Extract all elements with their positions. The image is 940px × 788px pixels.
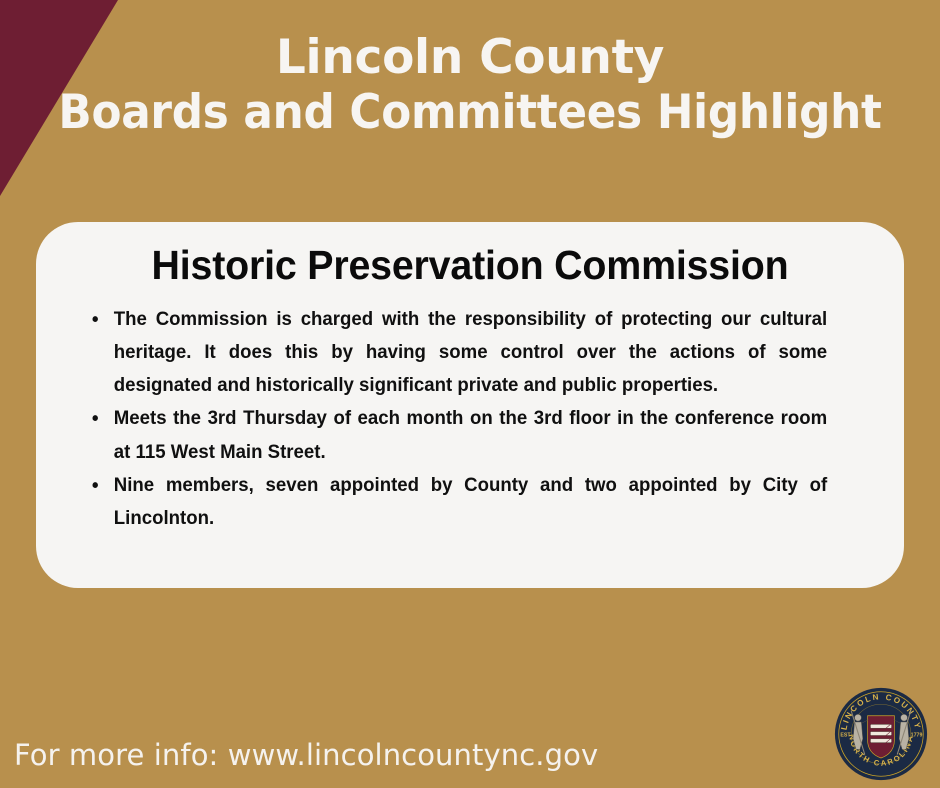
list-item: The Commission is charged with the respo… [88, 303, 827, 402]
svg-text:EST: EST [840, 732, 851, 738]
list-item: Nine members, seven appointed by County … [88, 469, 827, 535]
list-item-text-lastline: designated and historically significant … [114, 374, 718, 396]
list-item-text: Meets the 3rd Thursday of each month on … [114, 407, 774, 429]
lincoln-county-seal-logo: LINCOLN COUNTY NORTH CAROLINA EST 1779 [833, 686, 929, 782]
footer-info-text: For more info: www.lincolncountync.gov [14, 738, 598, 772]
svg-text:1779: 1779 [911, 732, 923, 738]
highlights-list: The Commission is charged with the respo… [64, 303, 876, 535]
header-title-line1: Lincoln County [0, 30, 940, 85]
poster-canvas: Lincoln County Boards and Committees Hig… [0, 0, 940, 788]
header-title-line2: Boards and Committees Highlight [33, 85, 907, 140]
list-item-text: The Commission is charged with the respo… [114, 308, 827, 363]
list-item-text-lastline: Lincolnton. [114, 507, 214, 529]
poster-header: Lincoln County Boards and Committees Hig… [0, 30, 940, 141]
list-item-text: Nine members, seven appointed by County … [114, 474, 827, 496]
content-card: Historic Preservation Commission The Com… [36, 222, 904, 588]
list-item: Meets the 3rd Thursday of each month on … [88, 402, 827, 468]
card-title: Historic Preservation Commission [80, 242, 860, 289]
